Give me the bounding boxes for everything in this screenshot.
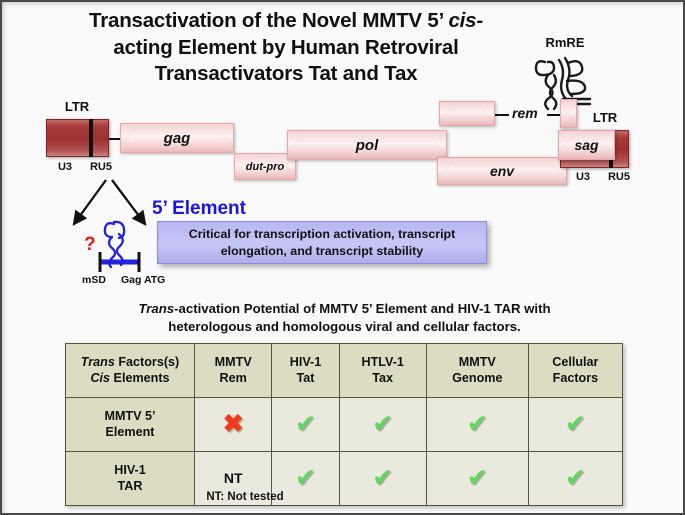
row0-label-l2: Element	[106, 425, 155, 439]
left-ltr-ru5-label: RU5	[83, 161, 119, 173]
transactivation-table: Trans Factors(s) Cis Elements MMTV Rem H…	[65, 343, 623, 506]
row0-label-l1: MMTV 5’	[104, 409, 155, 423]
title-line-3: Transactivators Tat and Tax	[155, 62, 418, 85]
check-icon: ✔	[565, 410, 586, 438]
not-tested-value: NT	[224, 470, 243, 486]
check-icon: ✔	[467, 410, 488, 438]
column-header-htlv1-tax: HTLV-1 Tax	[339, 344, 426, 398]
check-icon: ✔	[565, 464, 586, 492]
table-caption-rest: -activation Potential of MMTV 5’ Element…	[174, 301, 550, 316]
ltr-gag-connector	[109, 138, 120, 140]
left-ltr-box	[46, 119, 109, 157]
cell-r0-c2: ✔	[339, 398, 426, 452]
check-icon: ✔	[372, 464, 393, 492]
gene-label-gag: gag	[164, 130, 191, 147]
right-ltr-ru5-label: RU5	[601, 171, 637, 183]
col-hiv1-tat-l2: Tat	[296, 371, 314, 385]
col-mmtv-rem-l1: MMTV	[215, 355, 252, 369]
rem-label: rem	[512, 105, 538, 121]
rem-exon2-connector	[547, 114, 560, 116]
left-ltr-label: LTR	[52, 99, 102, 114]
cell-r1-c3: ✔	[426, 452, 528, 506]
col-mmtv-rem-l2: Rem	[220, 371, 247, 385]
cell-r0-c4: ✔	[528, 398, 622, 452]
column-header-cellular-factors: Cellular Factors	[528, 344, 622, 398]
cell-r1-c4: ✔	[528, 452, 622, 506]
left-ltr-u3-label: U3	[48, 161, 82, 173]
col-hiv1-tat-l1: HIV-1	[290, 355, 322, 369]
left-ltr-r-divider	[89, 119, 93, 157]
cell-r0-c3: ✔	[426, 398, 528, 452]
gene-label-sag: sag	[574, 137, 598, 153]
table-caption-italic: Trans	[138, 301, 174, 316]
table-footnote: NT: Not tested	[65, 491, 425, 503]
col-cellular-l2: Factors	[553, 371, 599, 385]
gene-box-env: env	[437, 157, 567, 185]
col-mmtv-genome-l1: MMTV	[459, 355, 496, 369]
figure-title: Transactivation of the Novel MMTV 5’ cis…	[16, 8, 556, 88]
corner-header-trans: Trans	[81, 355, 115, 369]
gene-box-sag: sag	[558, 130, 615, 160]
gag-atg-label: Gag ATG	[121, 274, 165, 286]
corner-header-elements: Elements	[110, 371, 170, 385]
col-htlv1-tax-l1: HTLV-1	[361, 355, 403, 369]
table-header-row: Trans Factors(s) Cis Elements MMTV Rem H…	[66, 344, 623, 398]
row1-label-l1: HIV-1	[114, 463, 146, 477]
rem-exon-2-box	[560, 99, 577, 128]
question-mark: ?	[84, 234, 96, 256]
col-htlv1-tax-l2: Tax	[372, 371, 393, 385]
column-header-mmtv-genome: MMTV Genome	[426, 344, 528, 398]
gene-box-gag: gag	[120, 123, 234, 153]
five-prime-element-description: Critical for transcription activation, t…	[166, 226, 478, 258]
table-corner-header: Trans Factors(s) Cis Elements	[66, 344, 195, 398]
check-icon: ✔	[295, 410, 316, 438]
table-row: MMTV 5’ Element ✖ ✔ ✔ ✔ ✔	[66, 398, 623, 452]
corner-header-factors: Factors(s)	[115, 355, 179, 369]
title-line-1-italic: cis-	[448, 9, 483, 32]
msd-label: mSD	[82, 274, 106, 286]
check-icon: ✔	[467, 464, 488, 492]
column-header-hiv1-tat: HIV-1 Tat	[272, 344, 339, 398]
corner-header-cis: Cis	[90, 371, 110, 385]
rna-hairpin-icon	[105, 222, 124, 267]
rmre-label: RmRE	[530, 35, 600, 50]
cell-r0-c0: ✖	[195, 398, 272, 452]
column-header-mmtv-rem: MMTV Rem	[195, 344, 272, 398]
cross-icon: ✖	[223, 410, 244, 438]
right-ltr-label: LTR	[580, 110, 630, 125]
check-icon: ✔	[295, 464, 316, 492]
check-icon: ✔	[372, 410, 393, 438]
title-line-2: acting Element by Human Retroviral	[113, 36, 458, 59]
col-cellular-l1: Cellular	[552, 355, 598, 369]
gene-label-pol: pol	[356, 137, 379, 154]
rem-exon-1-box	[439, 101, 495, 126]
gene-label-env: env	[490, 163, 514, 179]
title-line-1-a: Transactivation of the Novel MMTV 5’	[89, 9, 448, 32]
figure-panel: Transactivation of the Novel MMTV 5’ cis…	[0, 0, 685, 515]
table-caption: Trans-activation Potential of MMTV 5’ El…	[67, 300, 622, 335]
rem-exon1-connector	[495, 114, 509, 116]
col-mmtv-genome-l2: Genome	[452, 371, 502, 385]
five-prime-element-description-box: Critical for transcription activation, t…	[157, 221, 487, 264]
table-caption-line2: heterologous and homologous viral and ce…	[168, 319, 520, 334]
gene-box-pol: pol	[287, 130, 447, 160]
gene-label-dut-pro: dut-pro	[246, 161, 284, 173]
cell-r0-c1: ✔	[272, 398, 339, 452]
mmtv-genome-map: LTR U3 RU5 gag dut-pro pol env rem	[2, 97, 685, 197]
right-ltr-u3-label: U3	[566, 171, 600, 183]
five-prime-element-heading: 5’ Element	[152, 198, 246, 220]
row-header-mmtv-5-element: MMTV 5’ Element	[66, 398, 195, 452]
